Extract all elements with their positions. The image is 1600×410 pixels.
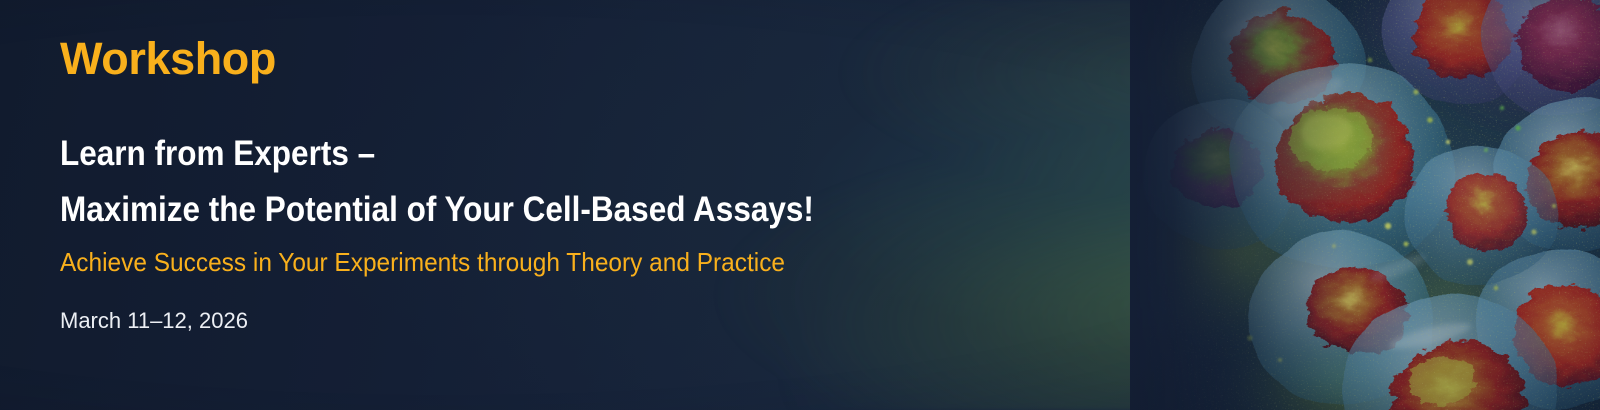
workshop-promo-banner: Workshop Learn from Experts – Maximize t… bbox=[0, 0, 1600, 410]
event-type-label: Workshop bbox=[60, 36, 276, 81]
cell-microscopy-image bbox=[1130, 0, 1600, 410]
headline-line-1: Learn from Experts – bbox=[60, 126, 814, 182]
headline-line-2: Maximize the Potential of Your Cell-Base… bbox=[60, 182, 814, 238]
banner-content: Workshop Learn from Experts – Maximize t… bbox=[60, 0, 1060, 410]
event-date: March 11–12, 2026 bbox=[60, 307, 248, 335]
banner-headline: Learn from Experts – Maximize the Potent… bbox=[60, 126, 814, 238]
banner-subtitle: Achieve Success in Your Experiments thro… bbox=[60, 246, 785, 278]
